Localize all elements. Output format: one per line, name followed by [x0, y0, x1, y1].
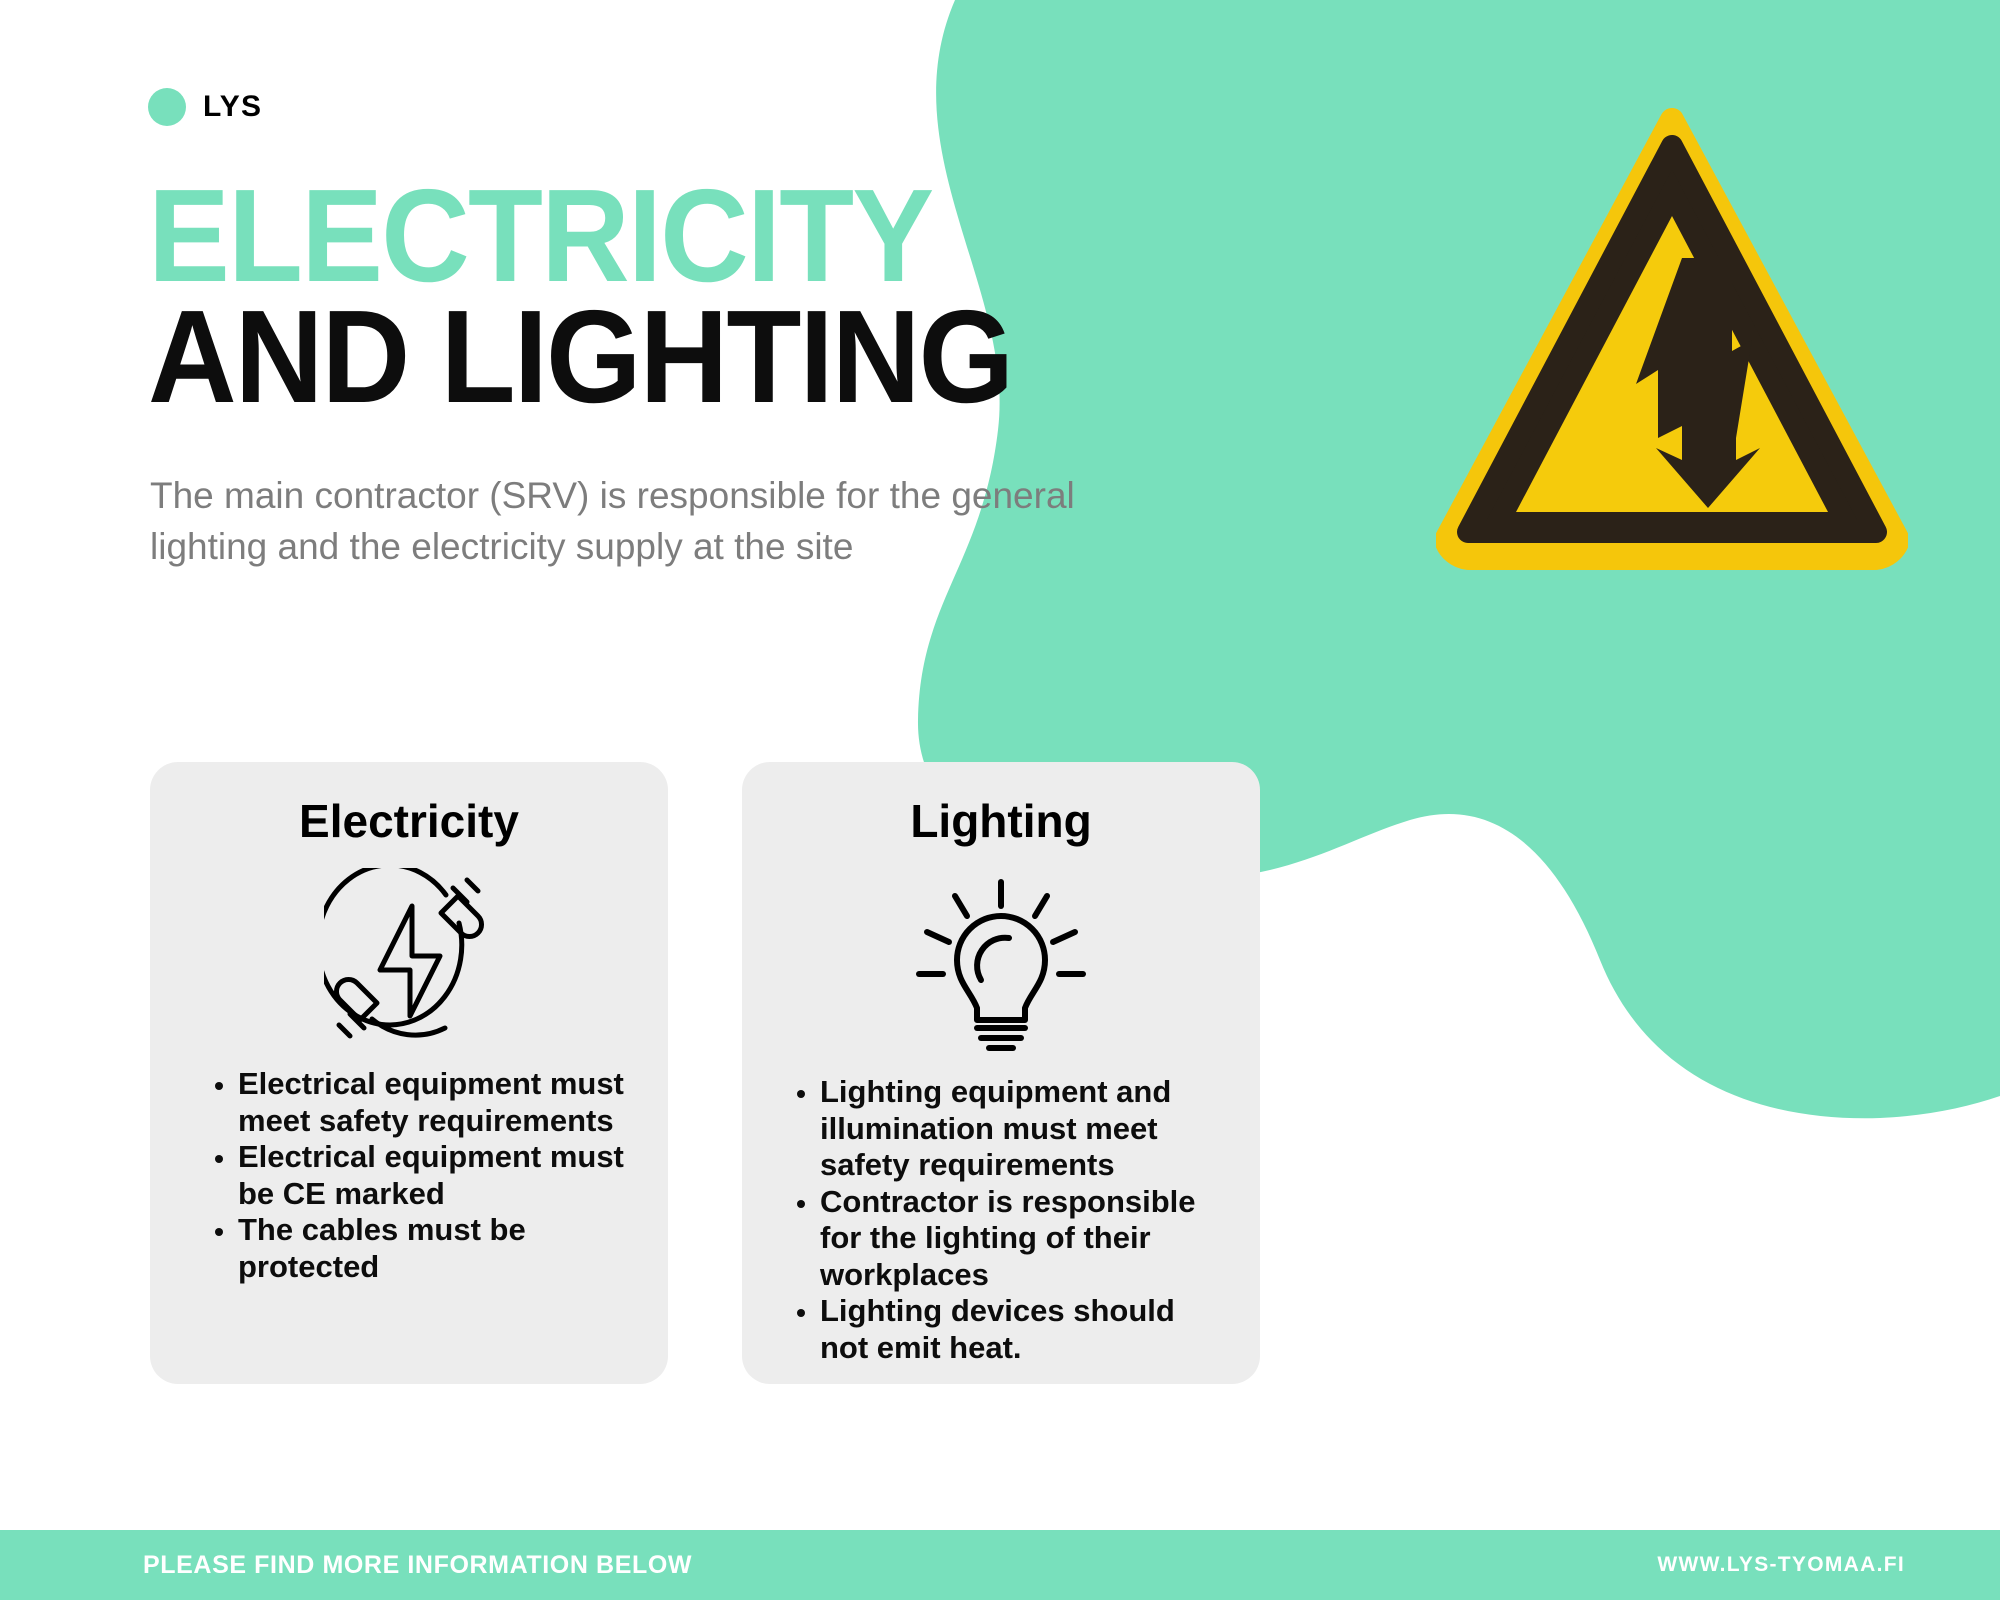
logo-dot-icon [148, 88, 186, 126]
list-item: Lighting equipment and illumination must… [820, 1074, 1230, 1184]
footer-website-url[interactable]: WWW.LYS-TYOMAA.FI [1657, 1553, 1905, 1577]
light-bulb-icon [911, 868, 1091, 1054]
footer-bar: PLEASE FIND MORE INFORMATION BELOW WWW.L… [0, 1530, 2000, 1600]
card-lighting: Lighting Lighting equ [742, 762, 1260, 1384]
list-item: Lighting devices should not emit heat. [820, 1293, 1230, 1366]
footer-call-to-action: PLEASE FIND MORE INFORMATION BELOW [143, 1551, 692, 1580]
list-item: Contractor is responsible for the lighti… [820, 1184, 1230, 1294]
page-subtitle: The main contractor (SRV) is responsible… [150, 470, 1160, 572]
card-electricity-title: Electricity [299, 798, 519, 844]
title-line-1: ELECTRICITY [148, 175, 1078, 296]
card-electricity: Electricity Electrical equipment must me… [150, 762, 668, 1384]
page-title: ELECTRICITY AND LIGHTING [148, 175, 1148, 418]
electric-plug-circle-bolt-icon [324, 868, 494, 1046]
info-cards-container: Electricity Electrical equipment must me… [150, 762, 1260, 1384]
title-line-2: AND LIGHTING [148, 296, 1078, 417]
card-electricity-bullets: Electrical equipment must meet safety re… [180, 1066, 638, 1285]
card-lighting-bullets: Lighting equipment and illumination must… [772, 1074, 1230, 1367]
brand-logo: LYS [148, 88, 262, 126]
list-item: Electrical equipment must be CE marked [238, 1139, 638, 1212]
card-lighting-title: Lighting [910, 798, 1091, 844]
logo-text: LYS [203, 92, 262, 122]
list-item: Electrical equipment must meet safety re… [238, 1066, 638, 1139]
list-item: The cables must be protected [238, 1212, 638, 1285]
high-voltage-warning-triangle-icon [1436, 108, 1908, 570]
